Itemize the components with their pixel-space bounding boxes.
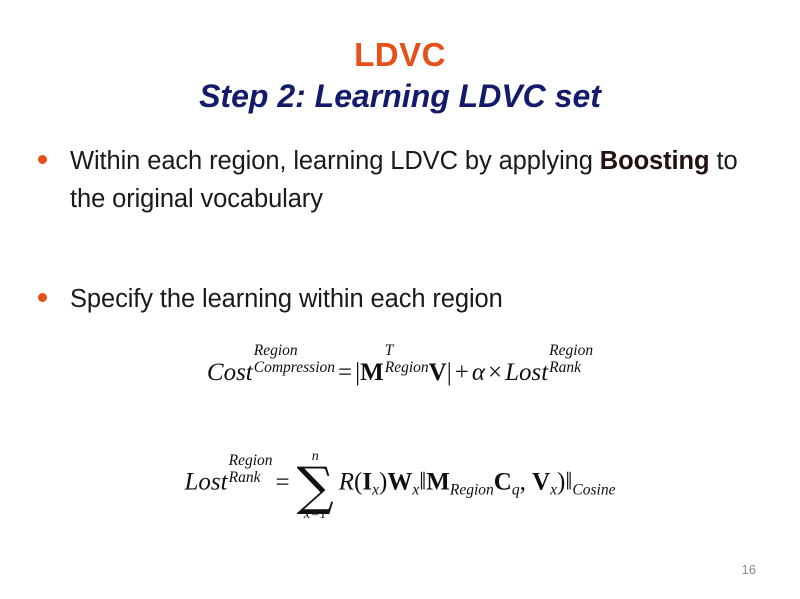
eq2-matrix-w: W <box>387 469 412 496</box>
equation-lost-rank: LostRegionRank=n∑x=1R(Ix)Wx‖MRegionCq, V… <box>0 448 800 520</box>
sigma-icon: ∑ <box>297 464 334 510</box>
eq2-i-sub: x <box>372 481 379 498</box>
slide-canvas: LDVC Step 2: Learning LDVC set Within ea… <box>0 0 800 599</box>
page-title: LDVC <box>0 36 800 74</box>
eq1-alpha: α <box>472 359 485 386</box>
eq1-m-sup: T <box>385 343 429 359</box>
bullet-text: Within each region, learning LDVC by app… <box>70 142 738 218</box>
page-number: 16 <box>742 562 756 577</box>
eq2-lhs-scripts: RegionRank <box>229 462 273 494</box>
eq2-r: R <box>339 469 354 496</box>
eq1-m-sub: Region <box>385 360 429 376</box>
eq1-lhs-sub: Compression <box>254 360 335 376</box>
eq2-norm-sub: Cosine <box>572 481 615 498</box>
bullet-dot-icon <box>38 155 47 164</box>
eq1-vector-v: V <box>429 359 447 386</box>
list-item: Within each region, learning LDVC by app… <box>38 142 738 218</box>
eq1-rhs-sub: Rank <box>549 360 593 376</box>
title-block: LDVC Step 2: Learning LDVC set <box>0 36 800 116</box>
eq1-right-bar: | <box>447 359 452 386</box>
eq2-c-sub: q <box>512 481 520 498</box>
bullet-text-part-1: Specify the learning within each region <box>70 285 503 313</box>
equation-cost-compression: CostRegionCompression=|MTRegionV|+α×Lost… <box>0 352 800 387</box>
eq2-m-sub: Region <box>450 481 494 498</box>
bullet-dot-icon <box>38 293 47 302</box>
bullet-bold-word: Boosting <box>600 147 710 175</box>
eq1-equals: = <box>335 359 355 386</box>
eq2-lhs-sub: Rank <box>229 470 273 486</box>
eq1-lhs-base: Cost <box>207 359 253 386</box>
bullet-text-part-1: Within each region, learning LDVC by app… <box>70 147 600 175</box>
eq2-v-sub: x <box>550 481 557 498</box>
eq2-matrix-m: M <box>426 469 450 496</box>
eq2-lhs-base: Lost <box>185 469 228 496</box>
eq1-rhs-base: Lost <box>505 359 548 386</box>
eq2-equals: = <box>273 469 293 496</box>
summation-symbol: n∑x=1 <box>297 450 334 522</box>
eq1-rhs-scripts: RegionRank <box>549 352 593 384</box>
eq2-matrix-i: I <box>362 469 372 496</box>
eq2-lhs-sup: Region <box>229 453 273 469</box>
eq1-matrix-m: M <box>360 359 384 386</box>
page-subtitle: Step 2: Learning LDVC set <box>0 76 800 116</box>
eq1-plus: + <box>452 359 472 386</box>
eq1-lhs-scripts: RegionCompression <box>254 352 335 384</box>
eq1-m-scripts: TRegion <box>385 352 429 384</box>
eq2-comma: , <box>520 469 526 496</box>
eq1-rhs-sup: Region <box>549 343 593 359</box>
eq2-matrix-c: C <box>494 469 512 496</box>
bullet-text: Specify the learning within each region <box>70 280 738 318</box>
eq1-lhs-sup: Region <box>254 343 335 359</box>
list-item: Specify the learning within each region <box>38 280 738 318</box>
eq1-times: × <box>485 359 505 386</box>
eq2-vector-v: V <box>532 469 550 496</box>
bullet-list: Within each region, learning LDVC by app… <box>38 142 738 318</box>
